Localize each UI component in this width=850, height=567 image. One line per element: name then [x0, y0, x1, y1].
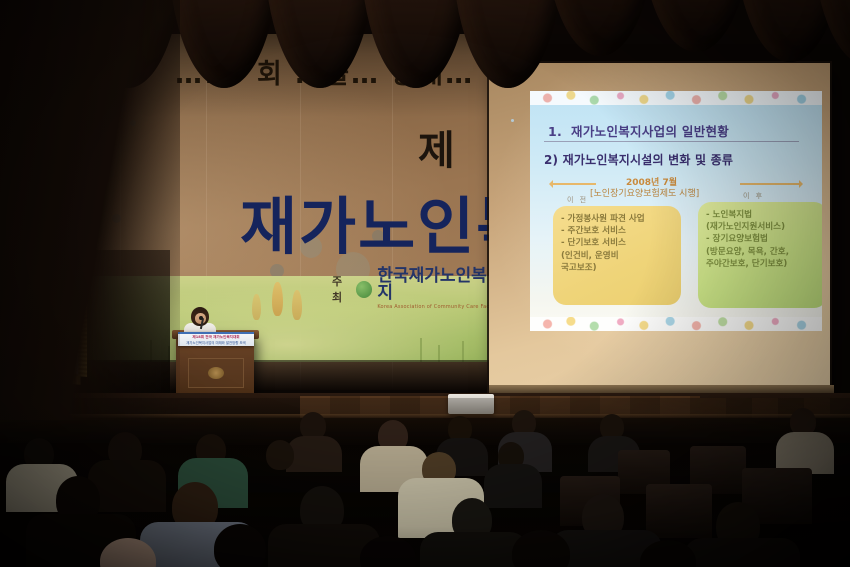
podium-emblem-icon — [208, 367, 224, 379]
microphone-icon — [199, 316, 203, 320]
podium-sign-line2: 재가노인복지사업의 미래와 발전방향 모색 — [178, 340, 254, 345]
slide-bottom-decorative-border — [530, 317, 822, 331]
box-before-line: - 가정봉사원 파견 사업 — [561, 213, 673, 225]
conference-photo-scene: …18 회 …올… 공개… 제 재가노인복 주최 한국재가노인복지 — [0, 0, 850, 567]
box-after-line: (방문요양, 목욕, 간호, — [706, 246, 819, 258]
box-before-line: - 주간보호 서비스 — [561, 225, 673, 237]
slide-top-decorative-border — [530, 91, 822, 105]
podium-panel — [188, 358, 244, 388]
projected-slide: 1.재가노인복지사업의 일반현황 2) 재가노인복지시설의 변화 및 종류 20… — [530, 91, 822, 331]
audience-shoulders — [286, 436, 342, 472]
projection-screen: 1.재가노인복지사업의 일반현황 2) 재가노인복지시설의 변화 및 종류 20… — [489, 63, 830, 393]
slide-heading: 1.재가노인복지사업의 일반현황 — [548, 121, 729, 140]
slide-subheading: 2) 재가노인복지시설의 변화 및 종류 — [544, 151, 733, 168]
box-after-line: - 장기요양보험법 — [706, 233, 819, 245]
box-after-line: (재가노인지원서비스) — [706, 221, 819, 233]
box-after-line: 주야간보호, 단기보호) — [706, 258, 819, 270]
timeline-law: [노인장기요양보험제도 시행] — [590, 186, 699, 199]
audience-head — [360, 536, 416, 567]
audience-shoulders — [684, 538, 800, 567]
timeline-after-label: 이 후 — [743, 191, 764, 201]
timeline-arrow-right-icon — [740, 183, 802, 185]
audience-head — [214, 524, 266, 567]
timeline-arrow-left-icon — [550, 183, 596, 185]
podium-sign: 제18회 전국 재가노인복지대회 재가노인복지사업의 미래와 발전방향 모색 — [178, 332, 254, 346]
slide-box-before: - 가정봉사원 파견 사업 - 주간보호 서비스 - 단기보호 서비스 (인건비… — [553, 206, 681, 305]
box-before-line: (인건비, 운영비 — [561, 250, 673, 262]
left-curtain-panel — [0, 0, 180, 420]
slide-heading-number: 1. — [548, 124, 562, 139]
timeline-before-label: 이 전 — [567, 195, 588, 205]
auditorium-chair — [646, 484, 712, 538]
audience-area — [0, 398, 850, 567]
audience-head — [266, 440, 294, 470]
slide-heading-text: 재가노인복지사업의 일반현황 — [571, 124, 729, 139]
box-after-line: - 노인복지법 — [706, 209, 819, 221]
box-before-line: - 단기보호 서비스 — [561, 237, 673, 249]
slide-box-after: - 노인복지법 (재가노인지원서비스) - 장기요양보험법 (방문요양, 목욕,… — [698, 202, 822, 308]
slide-divider — [544, 141, 799, 142]
auditorium-seating — [0, 398, 850, 567]
screen-speck — [511, 119, 514, 122]
audience-shoulders — [484, 464, 542, 508]
box-before-line: 국고보조) — [561, 262, 673, 274]
